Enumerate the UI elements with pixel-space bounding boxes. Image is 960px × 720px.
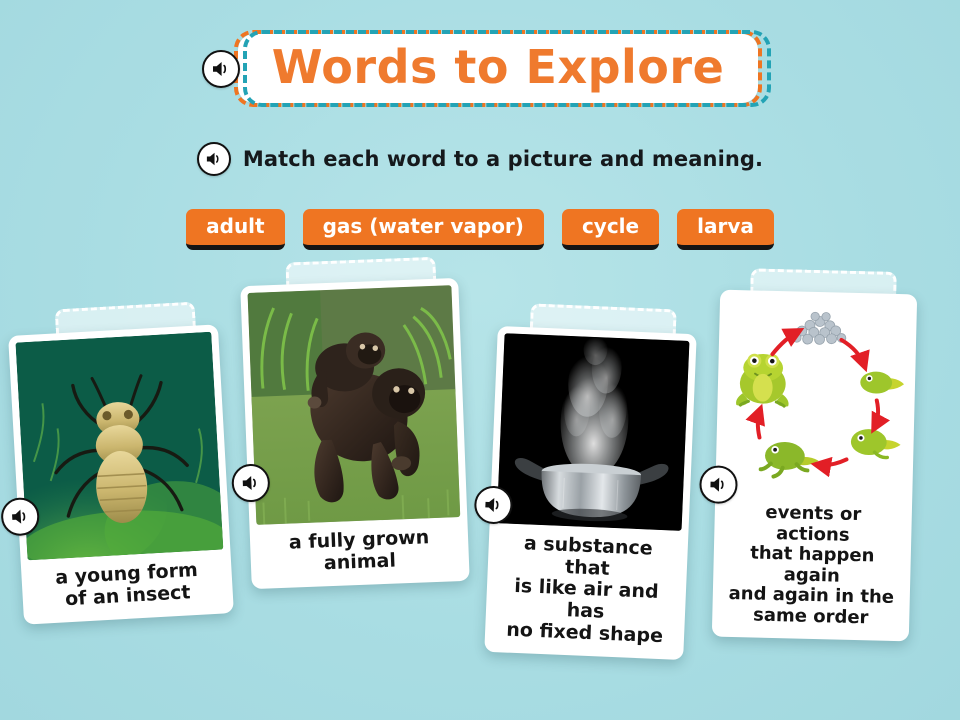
- card-caption: a young form of an insect: [28, 549, 227, 624]
- life-cycle-illustration: [722, 297, 910, 497]
- card-larva[interactable]: a young form of an insect: [8, 324, 234, 625]
- speaker-button[interactable]: [231, 463, 270, 502]
- card-body: a fully grown animal: [240, 278, 469, 589]
- gorilla-with-baby-photo: [248, 285, 461, 525]
- page-title: Words to Explore: [272, 43, 725, 91]
- card-gas[interactable]: a substance that is like air and has no …: [484, 326, 696, 660]
- title-speaker-button[interactable]: [202, 50, 240, 88]
- speaker-icon: [10, 507, 31, 526]
- steam-illustration: [497, 333, 690, 531]
- activity-screen: Words to Explore Match each word to a pi…: [0, 0, 960, 720]
- card-adult[interactable]: a fully grown animal: [240, 278, 469, 589]
- gorilla-illustration: [248, 285, 461, 525]
- speaker-button[interactable]: [0, 497, 40, 537]
- card-caption: events or actions that happen again and …: [719, 493, 905, 642]
- speaker-icon: [211, 60, 231, 78]
- card-body: a substance that is like air and has no …: [484, 326, 696, 660]
- caption-line: events or actions: [725, 502, 901, 547]
- caption-line: and again in the: [724, 584, 899, 609]
- insect-larva-photo: [15, 332, 223, 561]
- card-cycle[interactable]: events or actions that happen again and …: [712, 290, 917, 642]
- speaker-button[interactable]: [474, 485, 514, 525]
- speaker-icon: [483, 496, 504, 515]
- steaming-pot-photo: [497, 333, 690, 531]
- card-body: events or actions that happen again and …: [712, 290, 917, 642]
- caption-line: that happen again: [724, 543, 900, 588]
- larva-illustration: [15, 332, 223, 561]
- speaker-icon: [240, 474, 261, 493]
- card-speaker-button-gas[interactable]: [474, 485, 514, 525]
- frog-life-cycle-diagram: [722, 297, 910, 497]
- card-speaker-button-adult[interactable]: [231, 463, 270, 502]
- card-body: a young form of an insect: [8, 324, 234, 625]
- speaker-button[interactable]: [699, 465, 738, 504]
- speaker-icon: [708, 475, 728, 493]
- caption-line: same order: [723, 604, 898, 629]
- card-speaker-button-cycle[interactable]: [699, 465, 738, 504]
- card-caption: a fully grown animal: [256, 517, 462, 589]
- card-speaker-button-larva[interactable]: [0, 497, 40, 537]
- card-area: a young form of an insect: [0, 0, 960, 720]
- title-plate: Words to Explore: [238, 34, 759, 103]
- card-caption: a substance that is like air and has no …: [491, 523, 681, 660]
